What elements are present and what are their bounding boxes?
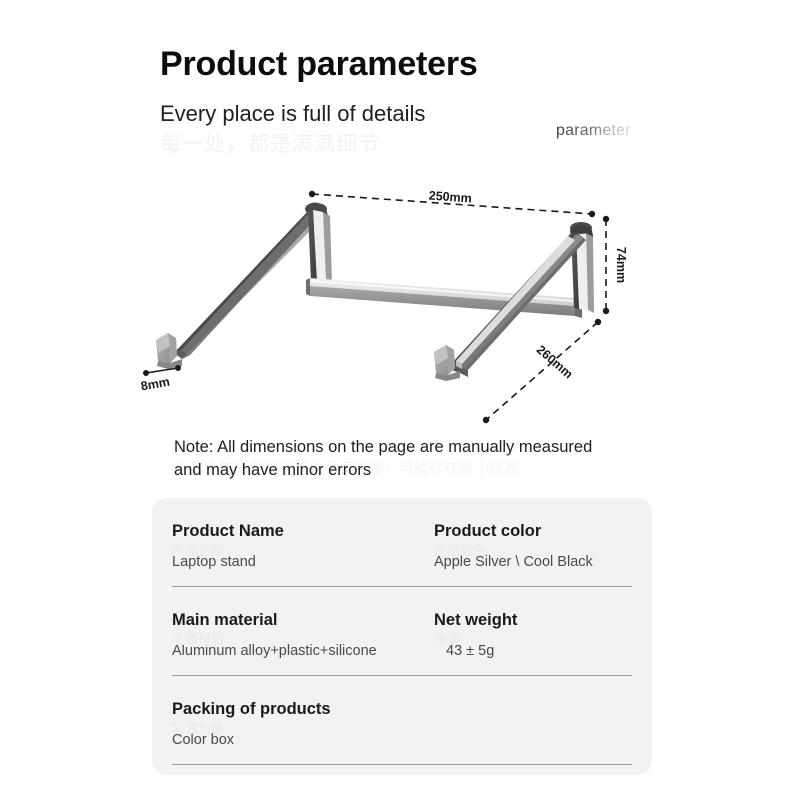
dimension-depth-label: 260mm	[534, 343, 576, 382]
dimension-depth-260mm: 260mm	[483, 319, 601, 423]
table-row: Main material 主要材质 Aluminum alloy+plasti…	[172, 587, 632, 676]
spec-label: Net weight	[434, 609, 632, 631]
spec-cell-empty	[434, 698, 632, 750]
dimension-height-label: 74mm	[614, 247, 628, 283]
spec-watermark: 主要材质	[172, 629, 224, 648]
spec-label: Main material	[172, 609, 434, 631]
spec-value: 43 ± 5g	[434, 641, 632, 661]
spec-label: Packing of products	[172, 698, 434, 720]
spec-cell-net-weight: Net weight 净重 43 ± 5g	[434, 609, 632, 661]
parameter-label: parameter	[556, 122, 631, 140]
spec-cell-main-material: Main material 主要材质 Aluminum alloy+plasti…	[172, 609, 434, 661]
spec-label: Product color	[434, 520, 632, 542]
dimension-thickness-label: 8mm	[140, 375, 171, 394]
spec-watermark: 产品名称	[172, 540, 224, 559]
spec-watermark: 彩盒包装	[172, 718, 224, 737]
page-title: Product parameters	[160, 44, 760, 84]
specification-table: Product Name 产品名称 Laptop stand Product c…	[152, 498, 652, 775]
dimension-height-74mm: 74mm	[603, 216, 628, 314]
spec-cell-packing: Packing of products 彩盒包装 Color box	[172, 698, 434, 750]
stand-left-arm	[174, 206, 323, 359]
dimension-width-250mm: 250mm	[309, 189, 595, 218]
laptop-stand-illustration: 250mm 74mm 260mm 8mm	[120, 170, 680, 435]
spec-watermark: 净重	[434, 629, 460, 648]
table-row: Packing of products 彩盒包装 Color box	[172, 676, 632, 765]
header-watermark-text: 每一处，都是满满细节	[160, 128, 380, 158]
dimension-width-label: 250mm	[428, 189, 472, 206]
page-subtitle: Every place is full of details	[160, 100, 760, 128]
table-row: Product Name 产品名称 Laptop stand Product c…	[172, 498, 632, 587]
spec-cell-product-name: Product Name 产品名称 Laptop stand	[172, 520, 434, 572]
dimension-thickness-8mm: 8mm	[140, 365, 181, 393]
product-parameters-page: Product parameters Every place is full o…	[0, 0, 800, 800]
spec-watermark: 产品颜色	[434, 540, 486, 559]
spec-cell-product-color: Product color 产品颜色 Apple Silver \ Cool B…	[434, 520, 632, 572]
spec-label: Product Name	[172, 520, 434, 542]
measurement-note: Note: All dimensions on the page are man…	[174, 436, 614, 482]
stand-left-leg	[308, 210, 332, 283]
page-header: Product parameters Every place is full o…	[160, 44, 760, 128]
